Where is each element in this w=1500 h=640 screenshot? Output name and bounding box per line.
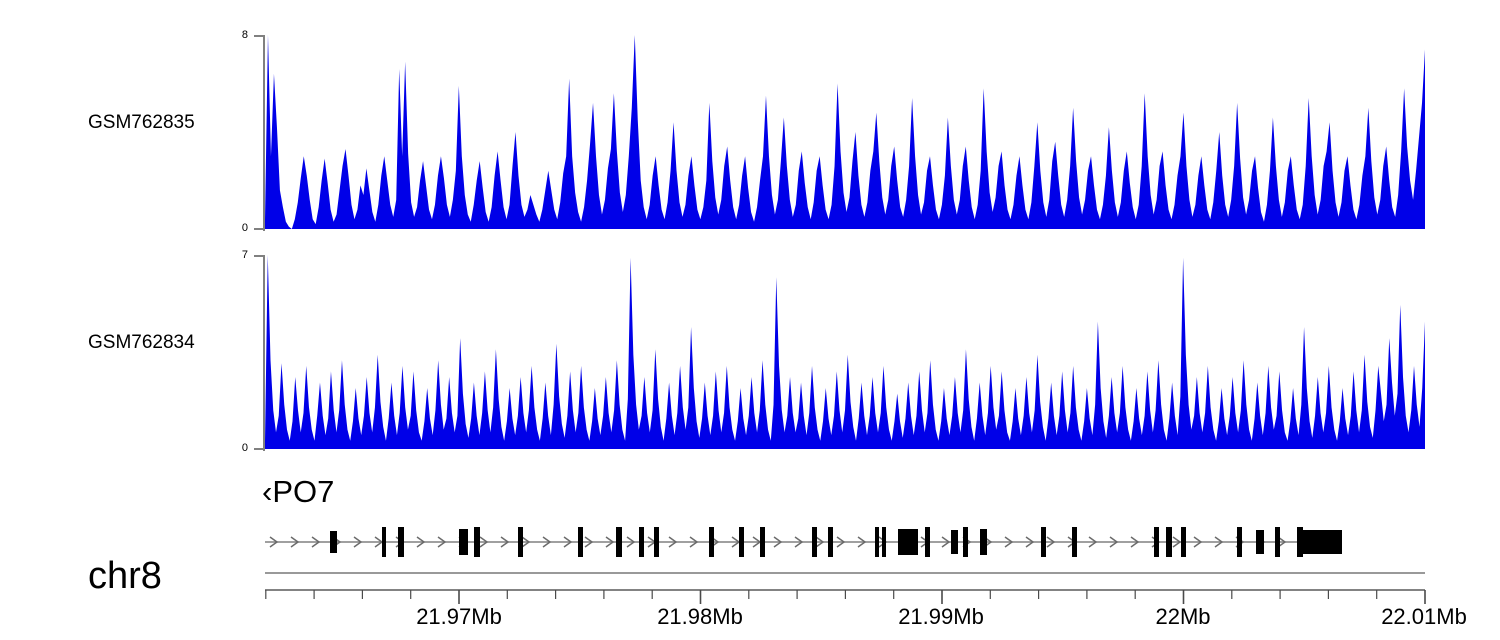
track-separator-line (265, 572, 1425, 574)
ruler-tick-label: 22Mb (1155, 606, 1210, 628)
gene-name-label[interactable]: ‹PO7 (262, 476, 502, 507)
track-label-gsm762834: GSM762834 (88, 333, 195, 352)
coverage-plot-track2[interactable] (265, 255, 1425, 449)
ruler-tick-label: 21.98Mb (657, 606, 743, 628)
y-axis-max-label-track2: 7 (226, 250, 248, 261)
gene-model[interactable] (265, 519, 1425, 565)
genome-browser: GSM762835 8 0 GSM762834 7 0 ‹PO7 (0, 0, 1500, 640)
coverage-profile-gsm762834 (265, 255, 1425, 449)
y-axis-min-label-track2: 0 (226, 443, 248, 454)
y-axis-tick-min-track2 (254, 448, 263, 450)
chromosome-label: chr8 (88, 557, 162, 595)
ruler-tick-label: 21.97Mb (416, 606, 502, 628)
gene-annotation-track: ‹PO7 (0, 0, 1500, 120)
ruler-tick-label: 21.99Mb (898, 606, 984, 628)
y-axis-tick-max-track2 (254, 255, 263, 257)
ruler-tick-label: 22.01Mb (1381, 606, 1467, 628)
